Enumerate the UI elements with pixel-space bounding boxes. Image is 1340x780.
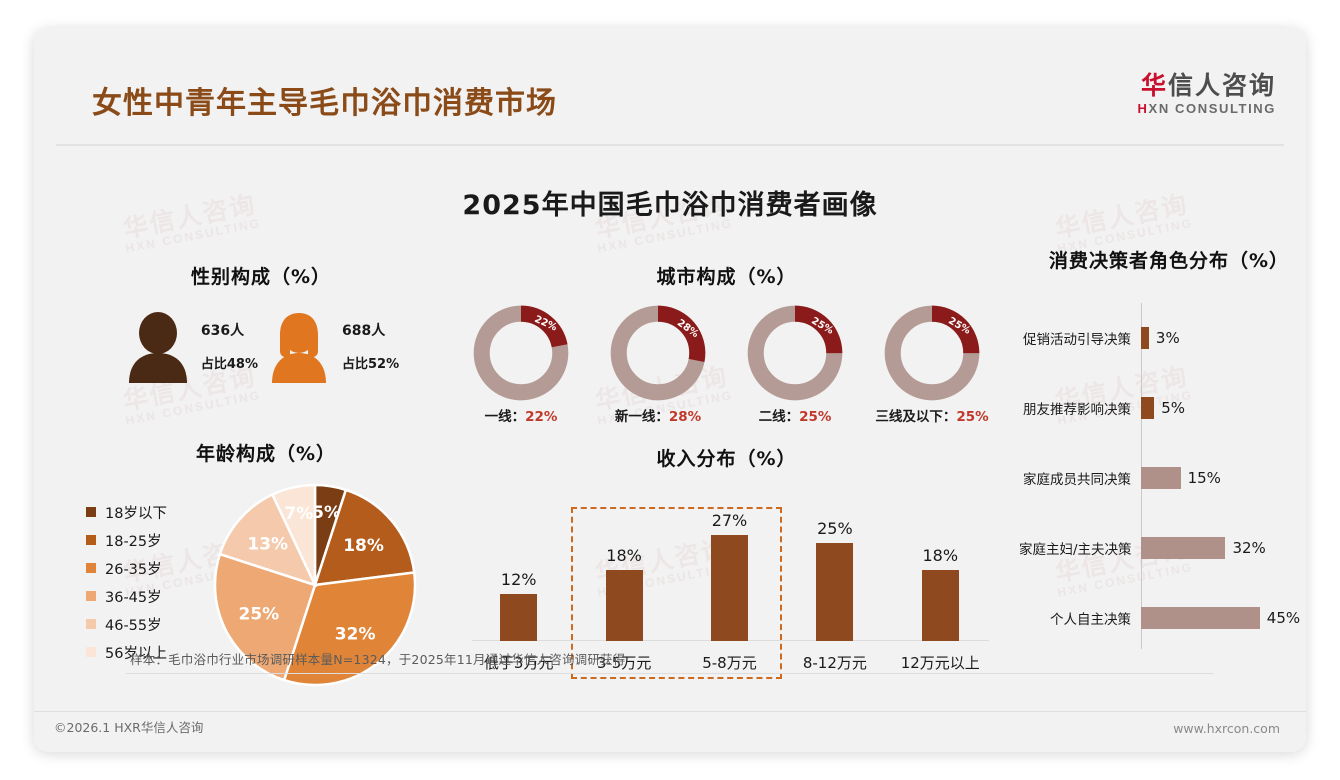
infographic-card: 华信人咨询 HXN CONSULTING 华信人咨询 HXN CONSULTIN… [34,28,1306,752]
decision-rows: 促销活动引导决策3%朋友推荐影响决策5%家庭成员共同决策15%家庭主妇/主夫决策… [1019,303,1306,653]
decision-chart: 促销活动引导决策3%朋友推荐影响决策5%家庭成员共同决策15%家庭主妇/主夫决策… [1019,303,1306,653]
donut-caption: 新一线：28% [599,405,717,425]
logo-accent-char: 华 [1141,71,1168,100]
income-category-label: 8-12万元 [803,652,867,673]
income-value-label: 12% [501,570,537,589]
header: 女性中青年主导毛巾浴巾消费市场 华信人咨询 HXN CONSULTING [34,70,1306,148]
donut-caption-name: 三线及以下： [875,409,956,425]
logo-rest-chars: 信人咨询 [1168,71,1276,100]
decision-label: 促销活动引导决策 [1019,328,1137,348]
decision-bar [1141,537,1225,559]
page-title: 女性中青年主导毛巾浴巾消费市场 [92,78,557,122]
female-count: 688人 [342,324,399,338]
donut-caption-value: 25% [799,409,831,425]
age-legend-item: 18-25岁 [86,526,206,554]
decision-label: 朋友推荐影响决策 [1019,398,1137,418]
income-bar [606,570,643,641]
income-column: 27%5-8万元 [680,489,778,679]
income-category-label: 5-8万元 [702,652,757,673]
legend-swatch [86,647,96,657]
decision-row: 朋友推荐影响决策5% [1019,394,1306,422]
legend-swatch [86,619,96,629]
decision-bar [1141,327,1149,349]
city-donut: 28%新一线：28% [599,303,717,425]
gender-section: 性别构成（%） 636人 占比48% [76,262,446,383]
male-avatar-icon [123,311,193,383]
income-value-label: 27% [712,511,748,530]
donut-caption: 二线：25% [736,405,854,425]
legend-label: 18岁以下 [105,502,167,523]
decision-row: 促销活动引导决策3% [1019,324,1306,352]
gender-row: 636人 占比48% 688人 占比52% [76,311,446,383]
income-section: 收入分布（%） 12%低于3万元18%3-5万元27%5-8万元25%8-12万… [454,444,999,679]
legend-swatch [86,535,96,545]
income-title: 收入分布（%） [454,444,999,471]
city-donut-svg: 22% [471,303,571,403]
decision-value-label: 15% [1188,469,1221,487]
income-bar [922,570,959,641]
income-value-label: 25% [817,519,853,538]
decision-section: 消费决策者角色分布（%） 促销活动引导决策3%朋友推荐影响决策5%家庭成员共同决… [1019,246,1306,653]
logo-en-accent: H [1138,101,1149,116]
pie-slice-label: 25% [239,605,280,625]
pie-slice-label: 13% [247,534,288,554]
gender-female: 688人 占比52% [264,311,399,383]
female-avatar-icon [264,311,334,383]
legend-label: 46-55岁 [105,614,162,635]
decision-label: 个人自主决策 [1019,608,1137,628]
donut-caption-value: 25% [956,409,988,425]
donut-caption-value: 28% [669,409,701,425]
logo-english: HXN CONSULTING [1138,102,1276,117]
city-donut: 25%三线及以下：25% [873,303,991,425]
decision-value-label: 32% [1232,539,1265,557]
age-legend-item: 18岁以下 [86,498,206,526]
income-column: 25%8-12万元 [786,489,884,679]
decision-label: 家庭主妇/主夫决策 [1019,538,1137,558]
income-category-label: 12万元以上 [901,652,980,673]
content-area: 性别构成（%） 636人 占比48% [34,234,1306,660]
logo-chinese: 华信人咨询 [1138,72,1276,100]
chart-main-title: 2025年中国毛巾浴巾消费者画像 [34,183,1306,222]
decision-row: 家庭主妇/主夫决策32% [1019,534,1306,562]
footer-divider [34,711,1306,712]
legend-label: 26-35岁 [105,558,162,579]
decision-bar [1141,467,1181,489]
donut-caption: 一线：22% [462,405,580,425]
decision-label: 家庭成员共同决策 [1019,468,1137,488]
copyright-text: ©2026.1 HXR华信人咨询 [54,717,203,736]
decision-bar [1141,607,1260,629]
website-text: www.hxrcon.com [1173,721,1280,736]
income-column: 18%12万元以上 [891,489,989,679]
header-divider [56,144,1284,146]
donut-caption: 三线及以下：25% [873,405,991,425]
income-bar [500,594,537,641]
city-donut: 22%一线：22% [462,303,580,425]
age-legend: 18岁以下18-25岁26-35岁36-45岁46-55岁56岁以上 [76,480,206,666]
city-title: 城市构成（%） [454,262,999,289]
income-bar [711,535,748,641]
gender-title: 性别构成（%） [76,262,446,289]
female-stats: 688人 占比52% [342,324,399,371]
donut-caption-value: 22% [525,409,557,425]
brand-logo: 华信人咨询 HXN CONSULTING [1138,72,1276,117]
male-share: 占比48% [201,358,258,371]
decision-value-label: 5% [1161,399,1185,417]
city-donut-svg: 25% [882,303,982,403]
age-legend-item: 26-35岁 [86,554,206,582]
donut-caption-name: 二线： [759,409,800,425]
city-section: 城市构成（%） 22%一线：22%28%新一线：28%25%二线：25%25%三… [454,262,999,425]
age-title: 年龄构成（%） [76,439,456,466]
decision-title: 消费决策者角色分布（%） [1019,246,1306,273]
note-divider [126,673,1214,674]
female-share: 占比52% [342,358,399,371]
male-count: 636人 [201,324,258,338]
pie-slice-label: 32% [335,625,376,645]
donut-caption-name: 一线： [485,409,526,425]
city-donut: 25%二线：25% [736,303,854,425]
infographic-page: 华信人咨询 HXN CONSULTING 华信人咨询 HXN CONSULTIN… [0,0,1340,780]
legend-swatch [86,591,96,601]
sample-note: 样本：毛巾浴巾行业市场调研样本量N=1324，于2025年11月通过华信人咨询调… [130,649,625,668]
pie-slice-label: 7% [284,504,313,524]
city-donut-row: 22%一线：22%28%新一线：28%25%二线：25%25%三线及以下：25% [454,303,999,425]
income-bar [816,543,853,641]
income-value-label: 18% [606,546,642,565]
city-donut-svg: 28% [608,303,708,403]
decision-value-label: 45% [1267,609,1300,627]
legend-swatch [86,507,96,517]
decision-row: 家庭成员共同决策15% [1019,464,1306,492]
age-legend-item: 46-55岁 [86,610,206,638]
logo-en-rest: XN CONSULTING [1149,101,1276,116]
donut-caption-name: 新一线： [615,409,669,425]
gender-male: 636人 占比48% [123,311,258,383]
male-stats: 636人 占比48% [201,324,258,371]
legend-label: 18-25岁 [105,530,162,551]
age-legend-item: 36-45岁 [86,582,206,610]
pie-slice-label: 18% [343,536,384,556]
income-value-label: 18% [922,546,958,565]
decision-bar [1141,397,1154,419]
legend-swatch [86,563,96,573]
city-donut-svg: 25% [745,303,845,403]
legend-label: 36-45岁 [105,586,162,607]
decision-row: 个人自主决策45% [1019,604,1306,632]
decision-value-label: 3% [1156,329,1180,347]
